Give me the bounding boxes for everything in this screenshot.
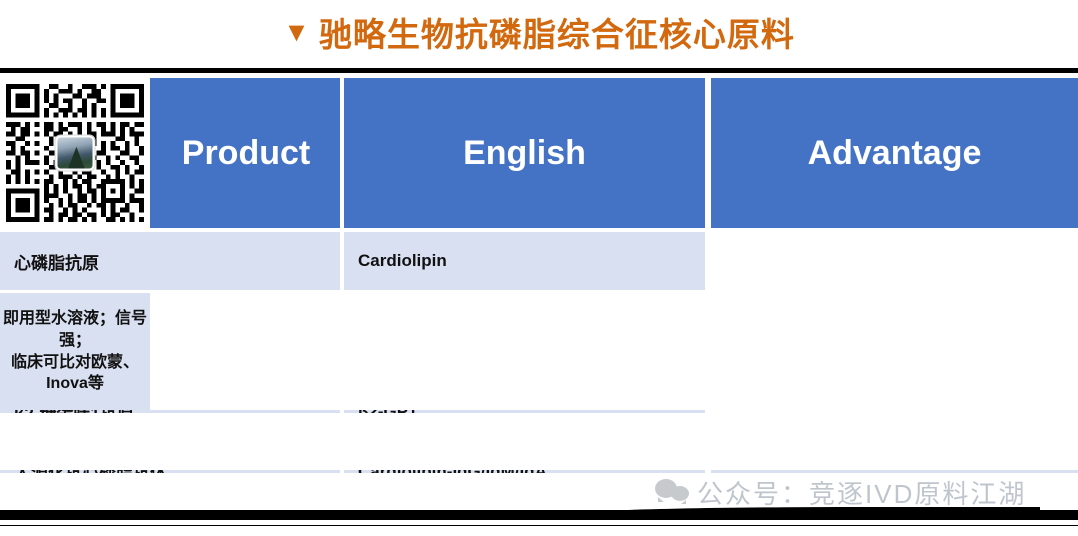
page-title: 驰略生物抗磷脂综合征核心原料 — [319, 18, 795, 51]
qr-code-cell[interactable] — [0, 78, 150, 228]
table-advantage-merged: 即用型水溶液；信号强； 临床可比对欧蒙、Inova等 — [0, 293, 150, 410]
column-header-product: Product — [152, 78, 340, 228]
product-table: Product English Advantage 心磷脂抗原 Cardioli… — [0, 68, 1078, 526]
row-gap — [344, 290, 705, 293]
row-gap — [152, 413, 340, 470]
bottom-border — [0, 510, 1078, 520]
table-row-english-0: Cardiolipin — [344, 232, 705, 290]
advantage-line-1: 即用型水溶液；信号强； — [0, 308, 150, 351]
row-gap — [705, 413, 711, 470]
triangle-marker-icon: ▼ — [283, 17, 310, 48]
row-gap — [0, 413, 150, 470]
table-grid: Product English Advantage 心磷脂抗原 Cardioli… — [0, 78, 1078, 525]
row-gap — [152, 290, 340, 293]
table-row-product-0: 心磷脂抗原 — [0, 232, 340, 290]
row-gap — [0, 290, 150, 293]
row-gap — [711, 410, 1078, 413]
column-header-english: English — [344, 78, 705, 228]
qr-center-logo-icon — [56, 136, 95, 171]
qr-code[interactable] — [6, 84, 144, 222]
page-title-bar: ▼ 驰略生物抗磷脂综合征核心原料 — [0, 0, 1078, 68]
column-header-advantage: Advantage — [711, 78, 1078, 228]
advantage-line-2: 临床可比对欧蒙、Inova等 — [0, 352, 150, 395]
row-gap — [344, 413, 705, 470]
row-gap — [711, 232, 1078, 290]
